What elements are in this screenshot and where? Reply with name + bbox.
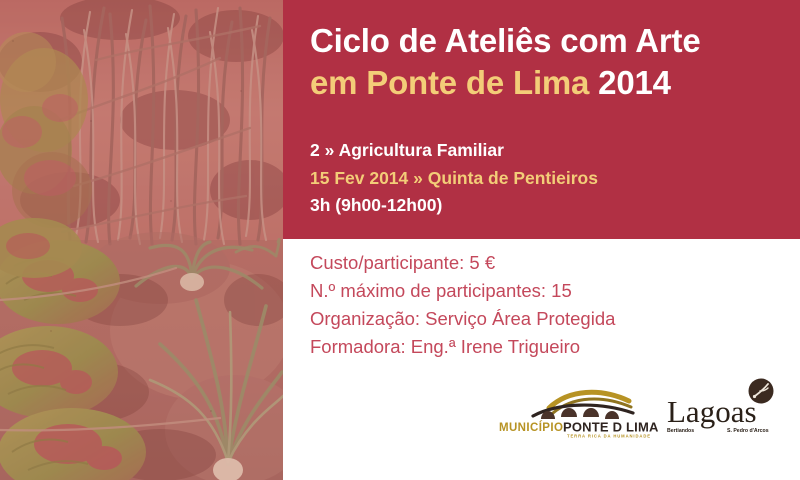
subtitle-date-line: 15 Fev 2014 » Quinta de Pentieiros	[310, 165, 780, 193]
lagoas-wordmark: Lagoas	[667, 394, 757, 429]
chevron-separator-1: »	[325, 140, 335, 160]
poster-title: Ciclo de Ateliês com Arte em Ponte de Li…	[310, 20, 780, 104]
chevron-separator-2: »	[413, 168, 423, 188]
title-line-2: em Ponte de Lima 2014	[310, 62, 780, 104]
title-line-2-highlight: em Ponte de Lima	[310, 64, 589, 101]
session-duration: 3h (9h00-12h00)	[310, 192, 780, 220]
detail-trainer: Formadora: Eng.ª Irene Trigueiro	[310, 333, 780, 361]
logo-row: MUNICÍPIO PONTE D LIMA TERRA RICA DA HUM…	[497, 378, 787, 440]
lagoas-sub-right: S. Pedro d'Arcos	[727, 428, 769, 434]
lagoas-logo-mark: Lagoas Bertiandos S. Pedro d'Arcos	[665, 378, 783, 436]
detail-organization: Organização: Serviço Área Protegida	[310, 305, 780, 333]
title-year: 2014	[598, 64, 671, 101]
garden-photo-illustration	[0, 0, 283, 480]
garden-photo	[0, 0, 283, 480]
details-block: Custo/participante: 5 € N.º máximo de pa…	[310, 249, 780, 361]
subtitle-theme-line: 2 » Agricultura Familiar	[310, 137, 780, 165]
session-theme: Agricultura Familiar	[339, 140, 504, 160]
detail-cost: Custo/participante: 5 €	[310, 249, 780, 277]
municipio-logo-mark: MUNICÍPIO PONTE D LIMA TERRA RICA DA HUM…	[497, 386, 662, 438]
ponte-de-lima-word: PONTE D LIMA	[563, 420, 659, 435]
lagoas-sub-left: Bertiandos	[667, 428, 694, 434]
session-date: 15 Fev 2014	[310, 168, 408, 188]
session-place: Quinta de Pentieiros	[428, 168, 598, 188]
municipio-ponte-de-lima-logo: MUNICÍPIO PONTE D LIMA TERRA RICA DA HUM…	[497, 386, 662, 438]
detail-max-participants: N.º máximo de participantes: 15	[310, 277, 780, 305]
poster-subtitle: 2 » Agricultura Familiar 15 Fev 2014 » Q…	[310, 137, 780, 220]
header-band: Ciclo de Ateliês com Arte em Ponte de Li…	[283, 0, 800, 239]
session-number: 2	[310, 140, 320, 160]
title-line-1: Ciclo de Ateliês com Arte	[310, 20, 780, 62]
lagoas-bertiandos-logo: Lagoas Bertiandos S. Pedro d'Arcos	[665, 378, 783, 436]
poster-canvas: Ciclo de Ateliês com Arte em Ponte de Li…	[0, 0, 800, 480]
municipio-word: MUNICÍPIO	[499, 421, 563, 434]
municipio-tagline: TERRA RICA DA HUMANIDADE	[567, 434, 651, 439]
